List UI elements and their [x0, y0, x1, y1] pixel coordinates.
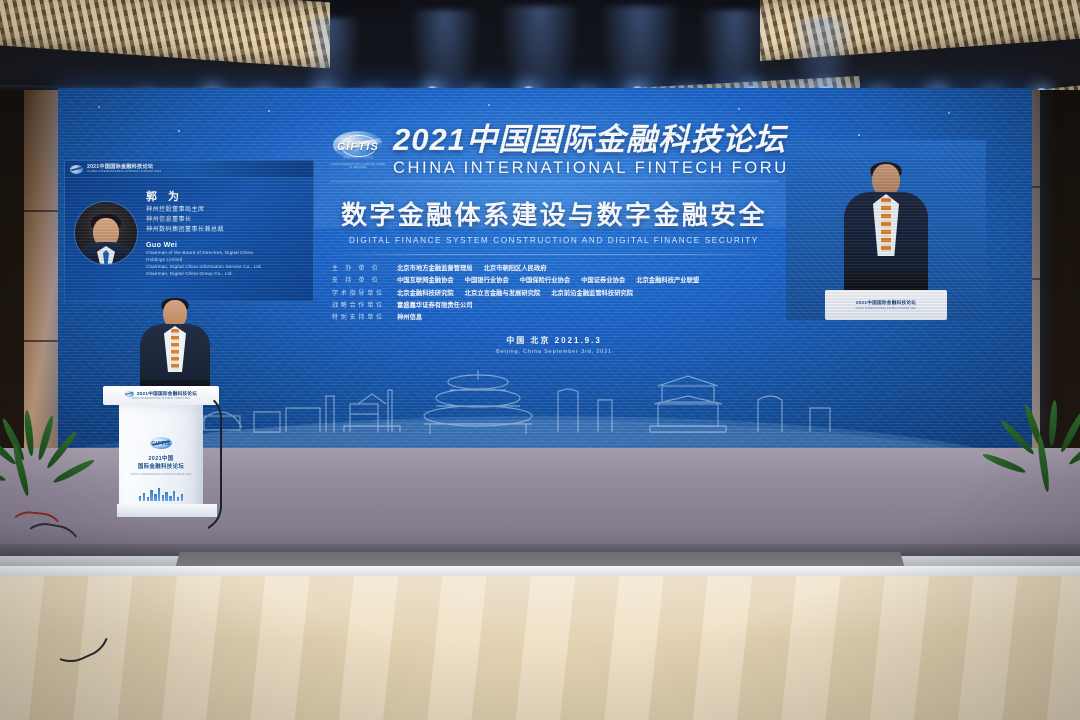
event-location-cn: 中国 北京 2021.9.3 — [330, 335, 778, 346]
forum-theme-cn: 数字金融体系建设与数字金融安全 — [330, 195, 778, 232]
floor-carpet — [0, 576, 1080, 720]
organizer-list: 主 办 单 位 北京市地方金融监督管理局 北京市朝阳区人民政府 支 持 单 位 … — [330, 263, 778, 321]
organizer-value: 北京市地方金融监督管理局 — [397, 263, 473, 272]
forum-theme-en: DIGITAL FINANCE SYSTEM CONSTRUCTION AND … — [330, 236, 778, 245]
organizer-value: 北京金融科技产业联盟 — [636, 275, 699, 284]
event-location-en: Beijing, China September 3rd, 2021 — [330, 349, 778, 355]
organizer-row: 主 办 单 位 北京市地方金融监督管理局 北京市朝阳区人民政府 — [332, 263, 778, 272]
organizer-value: 北京市朝阳区人民政府 — [484, 263, 547, 272]
podium-title-cn: 2021中国国际金融科技论坛 — [137, 391, 197, 397]
organizer-value: 北京立言金融与发展研究院 — [465, 288, 541, 297]
speaker-name-en: Guo Wei — [146, 240, 262, 249]
organizer-value: 富盛嘉华证券有限责任公司 — [397, 300, 473, 309]
live-video-feed: 2021中国国际金融科技论坛 CHINA INTERNATIONAL FINTE… — [786, 140, 986, 320]
organizer-value: 神州信息 — [397, 312, 422, 321]
ciftis-sub-en: CHINA INTERNATIONAL FAIR FOR TRADE IN SE… — [330, 163, 386, 171]
podium-title-en: CHINA INTERNATIONAL FINTECH FORUM 2021 — [132, 398, 191, 400]
organizer-value: 中国银行业协会 — [465, 275, 509, 284]
main-title-block: CIFTIS 中国国际服务贸易交易会 CHINA INTERNATIONAL F… — [330, 122, 778, 355]
feed-podium-sign: 2021中国国际金融科技论坛 CHINA INTERNATIONAL FINTE… — [825, 290, 947, 320]
podium-face-branding: CIFTIS 2021中国 国际金融科技论坛 CHINA INTERNATION… — [119, 437, 203, 476]
conference-stage-photo: 2021中国国际金融科技论坛 CHINA INTERNATIONAL FINTE… — [0, 0, 1080, 720]
header-title-en: CHINA INTERNATIONAL FINTECH FORUM 2021 — [87, 170, 161, 174]
feed-podium-title-cn: 2021中国国际金融科技论坛 — [856, 300, 916, 306]
avatar — [75, 202, 137, 264]
plant-left — [0, 408, 74, 518]
podium-face-line-1: 2021中国 — [119, 456, 203, 463]
organizer-value: 中国证券业协会 — [581, 275, 625, 284]
organizer-row: 战略合作单位 富盛嘉华证券有限责任公司 — [332, 300, 778, 309]
speaker-title-en-3: Chairman, Digital China Information Serv… — [146, 263, 262, 270]
organizer-label: 特别支持单位 — [332, 312, 388, 321]
speaker-title-en-2: Holdings Limited — [146, 256, 262, 263]
speaker-info-card: 2021中国国际金融科技论坛 CHINA INTERNATIONAL FINTE… — [64, 160, 314, 302]
speaker-title-cn-2: 神州信息董事长 — [146, 215, 262, 225]
speaker-title-cn-3: 神州数码集团董事长兼总裁 — [146, 225, 262, 235]
speaker-title-cn-1: 神州控股董事局主席 — [146, 205, 262, 215]
organizer-label: 支 持 单 位 — [332, 275, 388, 284]
ciftis-brand-logo: CIFTIS 中国国际服务贸易交易会 CHINA INTERNATIONAL F… — [330, 131, 386, 171]
ciftis-logo-icon — [125, 391, 134, 397]
divider — [330, 254, 778, 255]
organizer-label: 战略合作单位 — [332, 300, 388, 309]
organizer-value: 中国互联网金融协会 — [397, 275, 454, 284]
podium: 2021中国国际金融科技论坛 CHINA INTERNATIONAL FINTE… — [113, 386, 209, 528]
ciftis-logo-icon — [70, 165, 83, 174]
speaker-card-header: 2021中国国际金融科技论坛 CHINA INTERNATIONAL FINTE… — [65, 161, 313, 178]
plant-right — [1016, 400, 1080, 520]
podium-cable — [196, 392, 222, 532]
organizer-label: 学术指导单位 — [332, 288, 388, 297]
organizer-value: 北京前沿金融监管科技研究院 — [551, 288, 633, 297]
podium-body: CIFTIS 2021中国 国际金融科技论坛 CHINA INTERNATION… — [119, 405, 203, 517]
podium-acronym: CIFTIS — [119, 441, 203, 447]
organizer-label: 主 办 单 位 — [332, 263, 388, 272]
organizer-value: 北京金融科技研究院 — [397, 288, 454, 297]
speaker-name-cn: 郭 为 — [146, 190, 262, 205]
organizer-row: 学术指导单位 北京金融科技研究院 北京立言金融与发展研究院 北京前沿金融监管科技… — [332, 288, 778, 297]
ciftis-acronym: CIFTIS — [330, 141, 386, 153]
feed-podium-title-en: CHINA INTERNATIONAL FINTECH FORUM 2021 — [856, 307, 917, 310]
organizer-value: 中国保险行业协会 — [520, 275, 570, 284]
podium-face-line-2: 国际金融科技论坛 — [119, 464, 203, 471]
podium-face-line-3: CHINA INTERNATIONAL FINTECH FORUM 2021 — [119, 473, 203, 476]
speaker-title-en-1: Chairman of the Board of Directors, Digi… — [146, 249, 262, 256]
feed-speaker-figure — [843, 164, 929, 290]
podium-skyline-icon — [119, 488, 203, 501]
organizer-row: 特别支持单位 神州信息 — [332, 312, 778, 321]
speaker-person — [139, 300, 211, 396]
organizer-row: 支 持 单 位 中国互联网金融协会 中国银行业协会 中国保险行业协会 中国证券业… — [332, 275, 778, 284]
speaker-title-en-4: Chairman, Digital China Group Co., Ltd. — [146, 270, 262, 277]
